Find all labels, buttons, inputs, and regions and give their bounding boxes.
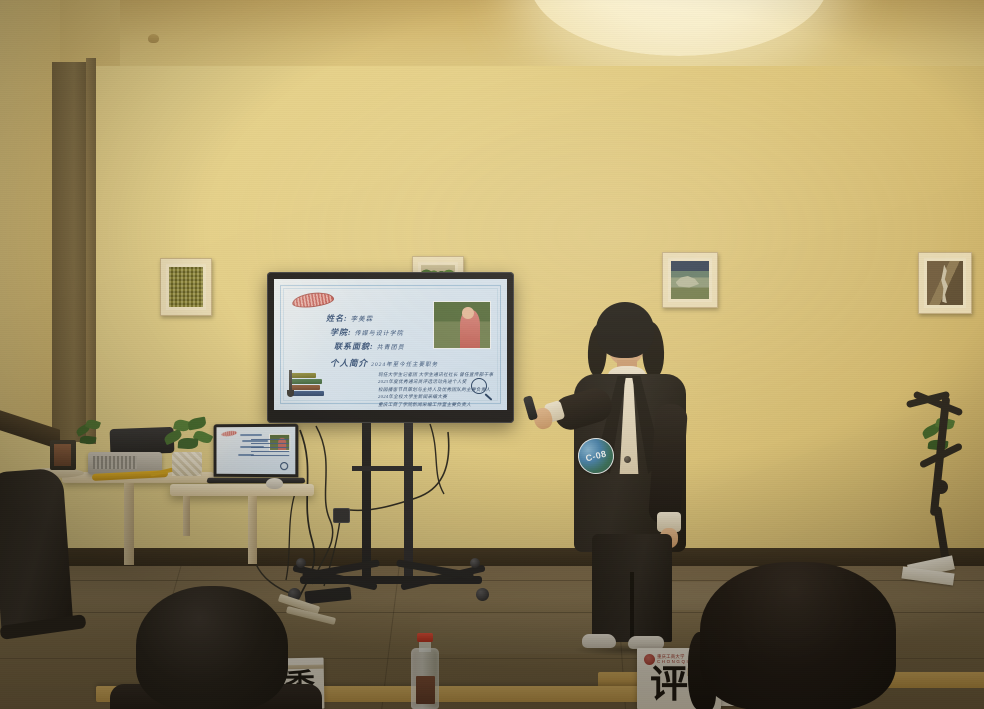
mini-magnifier-icon [280,462,288,470]
tv-stand-crossbar [352,466,422,471]
slide-magnifier-icon [471,378,487,394]
small-plant-left [76,420,104,454]
slide-field-name: 姓名: 李美霖 [326,313,373,324]
laptop-desk-leg [183,496,190,536]
potted-plant-leaves [162,418,214,456]
university-seal-icon [644,654,655,665]
audience-member-right [700,562,896,709]
office-chair [0,468,73,633]
tv-stand-post-right [404,423,413,583]
left-wall [0,0,60,430]
water-bottle [411,634,439,709]
wall-column-edge [86,58,96,444]
audience-member-left [136,586,288,709]
laptop-screen [214,424,299,478]
presenter-hair-top [596,302,654,358]
computer-mouse [266,478,283,489]
bottle-label [416,676,435,704]
smoke-detector-icon [148,34,159,43]
slide-brush-icon [289,370,292,392]
laptop-mirrored-slide [217,427,296,475]
tv-stand-caster [470,558,480,568]
laptop-desk-leg [248,496,257,564]
bottle-cap [417,633,433,642]
slide-field-college: 学院: 传媒与设计学院 [330,327,404,338]
slide-bullet: 2024年全校大学生新闻采编大赛 [378,393,498,400]
tv-display: 姓名: 李美霖 学院: 传媒与设计学院 联系面貌: 共青团员 个人简介 2024… [267,272,514,423]
wall-art-canyon-landscape [918,252,972,314]
blazer-button [624,456,631,463]
presenter: C-08 [524,296,704,656]
mini-ribbon-icon [221,430,237,437]
papers-on-floor [902,556,976,584]
wall-outlet [333,508,350,523]
presenter-trouser-gap [630,572,634,642]
equipment-rack [904,396,978,572]
photo-scene: 姓名: 李美霖 学院: 传媒与设计学院 联系面貌: 共青团员 个人简介 2024… [0,0,984,709]
slide-field-political-status: 联系面貌: 共青团员 [334,341,405,352]
plant-pot [172,452,202,476]
slide-books-stack-icon [290,364,324,396]
laptop-desk [170,484,314,496]
mini-bullet-block [251,436,289,456]
tv-screen: 姓名: 李美霖 学院: 传媒与设计学院 联系面貌: 共青团员 个人简介 2024… [274,279,507,410]
presentation-clicker [523,395,538,421]
desk-box-item [50,440,76,470]
tv-stand-caster [476,588,489,601]
slide-section-heading: 个人简介 2024年至今任主要职务 [330,357,438,369]
laptop-keyboard-base [206,478,306,484]
slide-portrait-photo [433,301,491,349]
tv-stand-post-left [362,423,371,583]
slide-bullet: 重庆工商了学院新闻采编工作室主要负责人 [378,401,498,408]
tv-stand-caster [296,558,306,568]
wall-art-woven-texture [160,258,212,316]
presenter-shoe-left [582,634,616,648]
